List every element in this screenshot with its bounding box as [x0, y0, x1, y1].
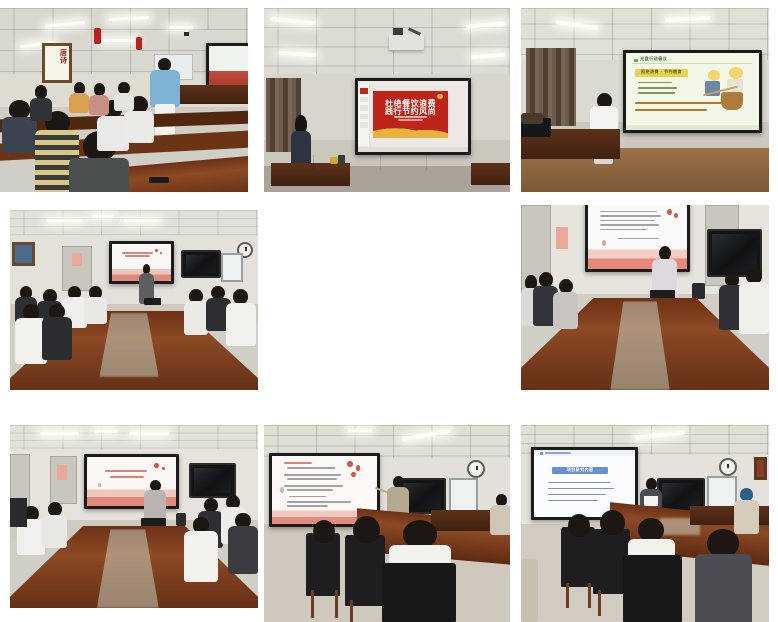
photo-grid-page: 唐诗: [0, 0, 778, 622]
slide-heading-bar: 项目研究内容: [552, 467, 608, 474]
photo-thumbnail-6[interactable]: [10, 425, 258, 608]
photo-thumbnail-3[interactable]: 光盘行动倡议 拒绝浪费 · 节约粮食: [521, 8, 769, 192]
slide-surface: 光盘行动倡议 拒绝浪费 · 节约粮食: [626, 53, 759, 130]
whiteboard: [221, 253, 243, 282]
photo-7-scene: [264, 425, 510, 622]
photo-thumbnail-1[interactable]: 唐诗: [0, 8, 248, 192]
slide-title-line2: 践行节约风尚: [373, 107, 448, 116]
photo-thumbnail-8[interactable]: 项目研究内容: [521, 425, 769, 622]
projection-screen: 光盘行动倡议 拒绝浪费 · 节约粮食: [623, 50, 762, 133]
slide-heading: 项目研究内容: [552, 468, 608, 473]
projection-screen: 杜绝餐饮浪费 践行节约风尚: [355, 78, 471, 155]
podium: [271, 163, 350, 187]
photo-thumbnail-5[interactable]: [521, 205, 769, 390]
wall-picture: [12, 242, 34, 265]
projection-screen: [206, 43, 248, 91]
photo-4-scene: [10, 210, 258, 390]
chair: [345, 535, 384, 606]
photo-5-scene: [521, 205, 769, 390]
photo-3-scene: 光盘行动倡议 拒绝浪费 · 节约粮食: [521, 8, 769, 192]
attendee-foreground: [695, 529, 752, 622]
slide-banner: 拒绝浪费 · 节约粮食: [635, 69, 688, 77]
photo-6-scene: [10, 425, 258, 608]
photo-thumbnail-2[interactable]: 杜绝餐饮浪费 践行节约风尚: [264, 8, 510, 192]
wall-calligraphy: 唐诗: [42, 43, 72, 83]
ceiling-projector: [389, 34, 423, 51]
slide-heading: 光盘行动倡议: [640, 57, 706, 62]
slide-surface: 杜绝餐饮浪费 践行节约风尚: [358, 81, 468, 152]
photo-thumbnail-7[interactable]: [264, 425, 510, 622]
photo-8-scene: 项目研究内容: [521, 425, 769, 622]
photo-2-scene: 杜绝餐饮浪费 践行节约风尚: [264, 8, 510, 192]
wall-tv: [189, 463, 236, 498]
photo-thumbnail-4[interactable]: [10, 210, 258, 390]
photo-1-scene: 唐诗: [0, 8, 248, 192]
wall-tv: [181, 250, 221, 279]
